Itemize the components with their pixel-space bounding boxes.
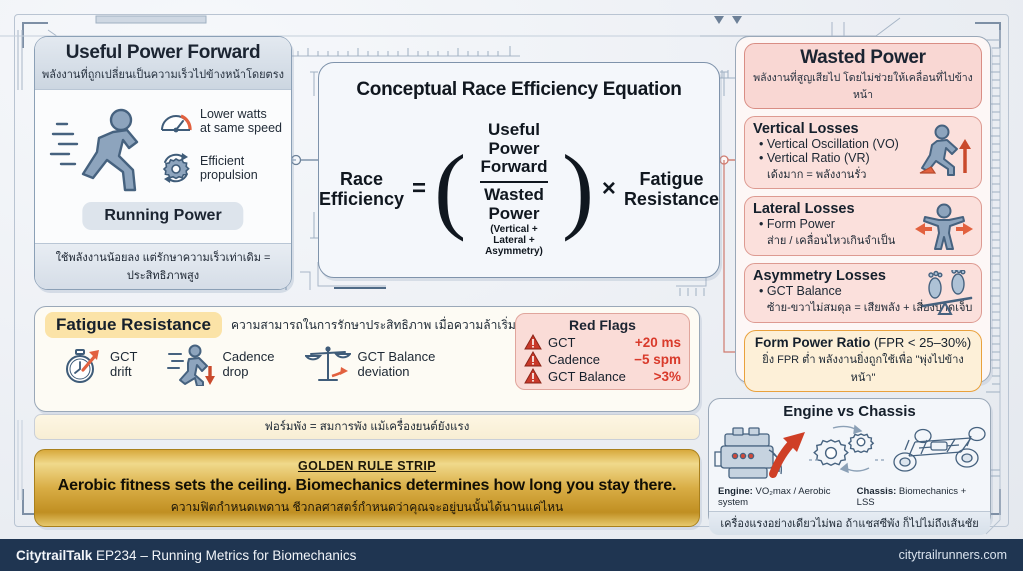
footer-website: citytrailrunners.com	[899, 548, 1007, 562]
red-flag-metric: GCT Balance	[548, 369, 648, 384]
red-flags-title: Red Flags	[524, 317, 681, 333]
left-panel-bullets: Lower watts at same speed	[159, 106, 287, 200]
race-efficiency-equation-panel: Conceptual Race Efficiency Equation Race…	[318, 62, 720, 278]
wasted-power-header: Wasted Power พลังงานที่สูญเสียไป โดยไม่ช…	[744, 43, 982, 109]
equation-rhs-line1: Fatigue	[639, 169, 703, 189]
page-footer: CitytrailTalk EP234 – Running Metrics fo…	[0, 539, 1023, 571]
equation-right-side: Fatigue Resistance	[624, 169, 719, 209]
footprints-seesaw-icon	[919, 270, 975, 318]
golden-rule-line-en: Aerobic fitness sets the ceiling. Biomec…	[58, 477, 676, 495]
balance-scale-icon	[305, 344, 351, 386]
red-flag-value: >3%	[654, 369, 681, 384]
wasted-power-title: Wasted Power	[749, 47, 977, 69]
infographic-root: Useful Power Forward พลังงานที่ถูกเปลี่ย…	[0, 0, 1023, 571]
item-line1: GCT	[110, 349, 137, 364]
list-item: GCT drift	[61, 344, 137, 386]
gauge-icon	[159, 106, 193, 136]
fpr-value: (FPR < 25–30%)	[874, 335, 971, 350]
engine-label-bold: Engine:	[718, 486, 753, 497]
list-item: Cadence drop	[167, 344, 274, 386]
left-panel-title: Useful Power Forward	[41, 42, 285, 64]
footer-episode: EP234 – Running Metrics for Biomechanics	[92, 548, 356, 563]
engine-vs-chassis-panel: Engine vs Chassis	[708, 398, 991, 527]
bullet-line1: Lower watts	[200, 107, 267, 121]
footer-brand: CitytrailTalk	[16, 548, 92, 563]
wasted-power-subtitle-thai: พลังงานที่สูญเสียไป โดยไม่ช่วยให้เคลื่อน…	[749, 69, 977, 103]
left-panel-header: Useful Power Forward พลังงานที่ถูกเปลี่ย…	[35, 37, 291, 90]
equation-fraction: Useful Power Forward Wasted Power (Verti…	[474, 121, 554, 257]
vertical-losses-card: Vertical Losses Vertical Oscillation (VO…	[744, 116, 982, 189]
multiply-sign: ×	[602, 175, 616, 203]
table-row: Cadence −5 spm	[524, 351, 681, 367]
warning-triangle-icon	[524, 334, 542, 350]
bullet-text: Efficient propulsion	[200, 154, 258, 183]
fraction-denominator: Wasted Power	[478, 186, 550, 223]
fatigue-resistance-panel: Fatigue Resistance ความสามารถในการรักษาป…	[34, 306, 700, 412]
red-flags-box: Red Flags GCT +20 ms Cadence −5 spm	[515, 313, 690, 390]
warning-triangle-icon	[524, 351, 542, 367]
item-line2: drift	[110, 364, 132, 379]
numerator-line2: Forward	[480, 157, 547, 176]
list-item: Lower watts at same speed	[159, 106, 287, 136]
gear-cycle-icon	[159, 152, 193, 184]
list-item: Efficient propulsion	[159, 152, 287, 184]
fraction-bar	[480, 181, 548, 183]
golden-rule-strip: GOLDEN RULE STRIP Aerobic fitness sets t…	[34, 449, 700, 527]
engine-chassis-illustration	[709, 420, 992, 486]
wasted-power-panel: Wasted Power พลังงานที่สูญเสียไป โดยไม่ช…	[735, 36, 991, 383]
fatigue-subtitle-thai: ความสามารถในการรักษาประสิทธิภาพ เมื่อควา…	[231, 316, 545, 335]
red-flag-value: −5 spm	[634, 352, 681, 367]
golden-rule-line-th: ความฟิตกำหนดเพดาน ชีวกลศาสตร์กำหนดว่าคุณ…	[171, 498, 563, 517]
runner-down-arrow-icon	[167, 344, 215, 386]
numerator-line1: Useful Power	[488, 120, 540, 158]
engine-chassis-labels: Engine: VO₂max / Aerobic system Chassis:…	[709, 486, 990, 508]
engine-chassis-footer-thai: เครื่องแรงอย่างเดียวไม่พอ ถ้าแชสซีพัง ก็…	[709, 511, 990, 535]
bullet-line1: Efficient	[200, 154, 244, 168]
bullet-line2: propulsion	[200, 168, 258, 182]
chassis-label-bold: Chassis:	[857, 486, 897, 497]
equation-left-side: Race Efficiency	[319, 169, 404, 209]
item-text: Cadence drop	[222, 350, 274, 379]
running-person-icon	[49, 104, 157, 200]
left-panel-subtitle-thai: พลังงานที่ถูกเปลี่ยนเป็นความเร็วไปข้างหน…	[41, 65, 285, 83]
equals-sign: =	[412, 175, 426, 203]
equation-title: Conceptual Race Efficiency Equation	[319, 79, 719, 101]
golden-rule-heading: GOLDEN RULE STRIP	[298, 459, 436, 473]
stopwatch-up-arrow-icon	[61, 344, 103, 386]
item-text: GCT drift	[110, 350, 137, 379]
list-item: GCT Balance deviation	[305, 344, 436, 386]
bullet-text: Lower watts at same speed	[200, 107, 282, 136]
equation-row: Race Efficiency = ( Useful Power Forward…	[319, 121, 719, 257]
fatigue-footer-strip: ฟอร์มพัง = สมการพัง แม้เครื่องยนต์ยังแรง	[34, 414, 700, 440]
red-flag-metric: GCT	[548, 335, 629, 350]
fraction-numerator: Useful Power Forward	[478, 121, 550, 177]
fpr-line: Form Power Ratio (FPR < 25–30%)	[753, 335, 973, 350]
item-text: GCT Balance deviation	[358, 350, 436, 379]
asymmetry-losses-card: Asymmetry Losses GCT Balance ซ้าย-ขวาไม่…	[744, 263, 982, 323]
useful-power-forward-panel: Useful Power Forward พลังงานที่ถูกเปลี่ย…	[34, 36, 292, 290]
left-panel-footer-thai: ใช้พลังงานน้อยลง แต่รักษาความเร็วเท่าเดิ…	[35, 243, 291, 289]
denominator-subtext: (Vertical + Lateral + Asymmetry)	[478, 224, 550, 257]
item-line1: GCT Balance	[358, 349, 436, 364]
equation-lhs-line1: Race	[340, 169, 383, 189]
engine-chassis-title: Engine vs Chassis	[709, 403, 990, 420]
chassis-label: Chassis: Biomechanics + LSS	[857, 486, 981, 508]
engine-label: Engine: VO₂max / Aerobic system	[718, 486, 857, 508]
item-line2: drop	[222, 364, 248, 379]
engine-chassis-artwork	[709, 420, 990, 486]
equation-rhs-line2: Resistance	[624, 189, 719, 209]
table-row: GCT +20 ms	[524, 334, 681, 350]
footer-left: CitytrailTalk EP234 – Running Metrics fo…	[16, 548, 356, 563]
growth-arrow-icon	[773, 432, 805, 474]
red-flag-value: +20 ms	[635, 335, 681, 350]
left-panel-body: Lower watts at same speed	[35, 90, 291, 238]
form-power-ratio-card: Form Power Ratio (FPR < 25–30%) ยิ่ง FPR…	[744, 330, 982, 392]
fpr-note-thai: ยิ่ง FPR ต่ำ พลังงานยิ่งถูกใช้เพื่อ "พุ่…	[753, 350, 973, 386]
warning-triangle-icon	[524, 368, 542, 384]
lateral-losses-card: Lateral Losses Form Power ส่าย / เคลื่อน…	[744, 196, 982, 256]
equation-lhs-line2: Efficiency	[319, 189, 404, 209]
item-line1: Cadence	[222, 349, 274, 364]
table-row: GCT Balance >3%	[524, 368, 681, 384]
runner-lateral-sway-icon	[913, 203, 975, 253]
running-power-badge: Running Power	[82, 202, 243, 230]
bullet-line2: at same speed	[200, 121, 282, 135]
runner-vertical-bounce-icon	[917, 123, 975, 177]
fpr-label: Form Power Ratio	[755, 335, 871, 350]
item-line2: deviation	[358, 364, 410, 379]
fatigue-resistance-chip: Fatigue Resistance	[45, 312, 222, 338]
gears-icon	[814, 434, 873, 465]
car-chassis-icon	[894, 428, 985, 472]
red-flag-metric: Cadence	[548, 352, 628, 367]
